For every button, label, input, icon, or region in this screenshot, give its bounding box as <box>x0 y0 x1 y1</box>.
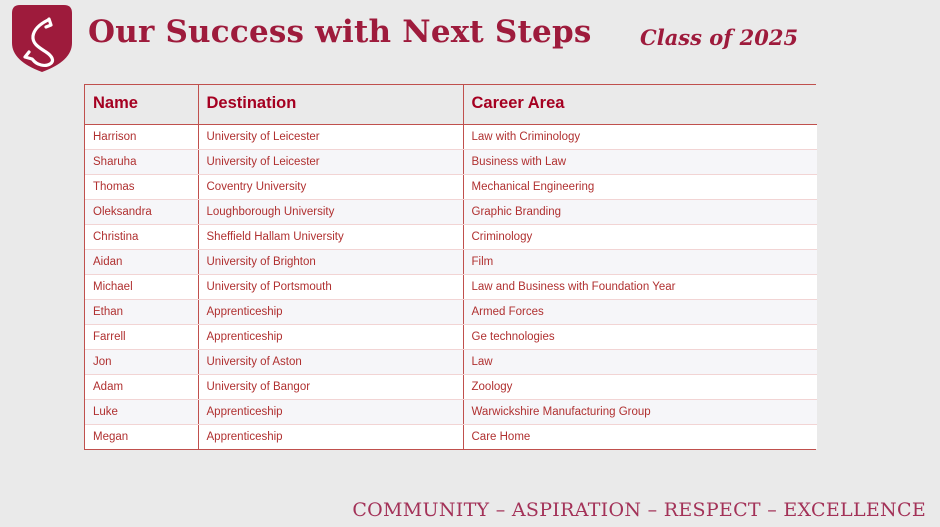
school-motto-footer: COMMUNITY – ASPIRATION – RESPECT – EXCEL… <box>352 499 926 521</box>
table-row[interactable]: JonUniversity of AstonLaw <box>85 350 817 375</box>
table-header: Name Destination Career Area <box>85 85 817 125</box>
cell-career-area: Law <box>463 350 817 375</box>
cell-destination: Apprenticeship <box>198 300 463 325</box>
cell-name: Ethan <box>85 300 198 325</box>
table-row[interactable]: OleksandraLoughborough UniversityGraphic… <box>85 200 817 225</box>
cell-name: Thomas <box>85 175 198 200</box>
column-header-name[interactable]: Name <box>85 85 198 125</box>
cell-name: Sharuha <box>85 150 198 175</box>
cell-destination: University of Portsmouth <box>198 275 463 300</box>
cell-destination: Loughborough University <box>198 200 463 225</box>
cell-career-area: Law and Business with Foundation Year <box>463 275 817 300</box>
cell-name: Aidan <box>85 250 198 275</box>
cell-career-area: Graphic Branding <box>463 200 817 225</box>
cell-destination: Apprenticeship <box>198 400 463 425</box>
class-year-label: Class of 2025 <box>640 25 798 50</box>
cell-destination: University of Leicester <box>198 150 463 175</box>
cell-career-area: Ge technologies <box>463 325 817 350</box>
cell-name: Luke <box>85 400 198 425</box>
cell-career-area: Film <box>463 250 817 275</box>
cell-name: Christina <box>85 225 198 250</box>
cell-name: Oleksandra <box>85 200 198 225</box>
cell-career-area: Warwickshire Manufacturing Group <box>463 400 817 425</box>
cell-name: Farrell <box>85 325 198 350</box>
table-body: HarrisonUniversity of LeicesterLaw with … <box>85 125 817 450</box>
page-header: Our Success with Next Steps Class of 202… <box>0 0 940 78</box>
cell-destination: University of Leicester <box>198 125 463 150</box>
table-row[interactable]: HarrisonUniversity of LeicesterLaw with … <box>85 125 817 150</box>
cell-destination: Apprenticeship <box>198 425 463 450</box>
cell-destination: Sheffield Hallam University <box>198 225 463 250</box>
destinations-table-container: Name Destination Career Area HarrisonUni… <box>84 84 816 450</box>
cell-career-area: Business with Law <box>463 150 817 175</box>
destinations-table: Name Destination Career Area HarrisonUni… <box>85 85 817 449</box>
cell-career-area: Armed Forces <box>463 300 817 325</box>
cell-name: Harrison <box>85 125 198 150</box>
cell-destination: University of Aston <box>198 350 463 375</box>
cell-career-area: Criminology <box>463 225 817 250</box>
cell-career-area: Mechanical Engineering <box>463 175 817 200</box>
table-row[interactable]: MeganApprenticeshipCare Home <box>85 425 817 450</box>
table-row[interactable]: MichaelUniversity of PortsmouthLaw and B… <box>85 275 817 300</box>
cell-name: Jon <box>85 350 198 375</box>
table-row[interactable]: AidanUniversity of BrightonFilm <box>85 250 817 275</box>
table-row[interactable]: ThomasCoventry UniversityMechanical Engi… <box>85 175 817 200</box>
column-header-destination[interactable]: Destination <box>198 85 463 125</box>
cell-name: Adam <box>85 375 198 400</box>
cell-destination: University of Brighton <box>198 250 463 275</box>
cell-name: Michael <box>85 275 198 300</box>
table-header-row: Name Destination Career Area <box>85 85 817 125</box>
page-title: Our Success with Next Steps <box>88 14 592 50</box>
cell-destination: University of Bangor <box>198 375 463 400</box>
table-row[interactable]: AdamUniversity of BangorZoology <box>85 375 817 400</box>
school-shield-logo <box>10 3 74 73</box>
cell-name: Megan <box>85 425 198 450</box>
column-header-career-area[interactable]: Career Area <box>463 85 817 125</box>
table-row[interactable]: ChristinaSheffield Hallam UniversityCrim… <box>85 225 817 250</box>
cell-destination: Apprenticeship <box>198 325 463 350</box>
table-row[interactable]: SharuhaUniversity of LeicesterBusiness w… <box>85 150 817 175</box>
cell-destination: Coventry University <box>198 175 463 200</box>
cell-career-area: Law with Criminology <box>463 125 817 150</box>
cell-career-area: Care Home <box>463 425 817 450</box>
cell-career-area: Zoology <box>463 375 817 400</box>
table-row[interactable]: FarrellApprenticeshipGe technologies <box>85 325 817 350</box>
table-row[interactable]: LukeApprenticeshipWarwickshire Manufactu… <box>85 400 817 425</box>
table-row[interactable]: EthanApprenticeshipArmed Forces <box>85 300 817 325</box>
